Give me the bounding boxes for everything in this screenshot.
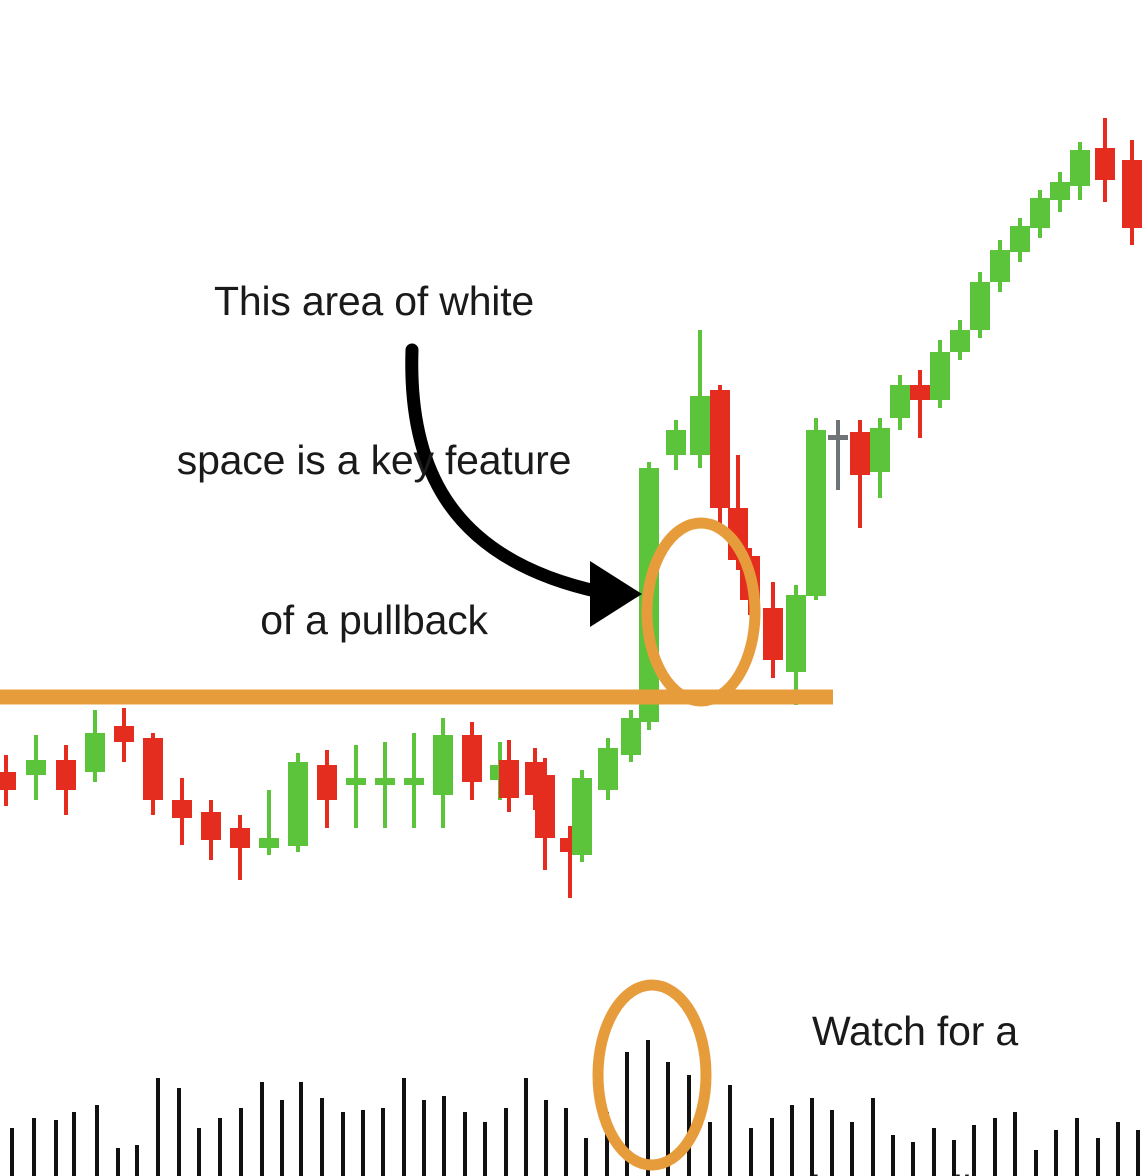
candle-body	[950, 330, 970, 352]
volume-bar-15	[320, 1098, 324, 1176]
volume-bar-2	[54, 1120, 58, 1176]
candle-0	[0, 755, 16, 806]
candle-9	[259, 790, 279, 855]
candle-11	[317, 750, 337, 828]
candle-body	[404, 778, 424, 785]
candle-wick	[354, 745, 358, 828]
candle-body	[1095, 148, 1115, 180]
candle-32	[786, 585, 806, 705]
candle-wick	[918, 370, 922, 438]
candle-body	[317, 765, 337, 800]
candle-43	[1010, 218, 1030, 262]
volume-bar-8	[177, 1088, 181, 1176]
candle-2	[56, 745, 76, 815]
candle-body	[375, 778, 395, 785]
volume-bar-31	[646, 1040, 650, 1176]
candle-body	[666, 430, 686, 455]
candle-body	[499, 760, 519, 798]
candle-body	[230, 828, 250, 848]
candle-body	[1030, 198, 1050, 228]
candle-13	[375, 742, 395, 828]
volume-bar-24	[504, 1108, 508, 1176]
candle-44	[1030, 190, 1050, 238]
candle-38	[910, 370, 930, 438]
candle-body	[1122, 160, 1142, 228]
candle-body	[710, 390, 730, 508]
volume-bar-6	[135, 1145, 139, 1176]
volume-bar-10	[218, 1118, 222, 1176]
candle-45	[1050, 172, 1070, 212]
candle-39	[930, 340, 950, 408]
candle-41	[970, 272, 990, 338]
volume-bar-33	[687, 1075, 691, 1176]
candle-body	[806, 430, 826, 596]
volume-bar-3	[72, 1112, 76, 1176]
volume-bar-21	[442, 1096, 446, 1176]
candle-body	[0, 772, 16, 790]
candle-body	[26, 760, 46, 775]
candle-body	[56, 760, 76, 790]
volume-bar-4	[95, 1105, 99, 1176]
volume-annotation-line-1: Watch for a	[700, 1005, 1130, 1058]
candle-35	[850, 420, 870, 528]
volume-bar-9	[197, 1128, 201, 1176]
candle-body	[828, 435, 848, 440]
pullback-highlight-ellipse	[647, 523, 755, 701]
candle-48	[1122, 140, 1142, 245]
candle-37	[890, 375, 910, 430]
volume-bar-27	[564, 1108, 568, 1176]
candle-body	[990, 250, 1010, 282]
candle-body	[930, 352, 950, 400]
candle-31	[763, 582, 783, 678]
volume-bar-55	[1136, 1130, 1140, 1176]
candle-40	[950, 320, 970, 360]
volume-annotation-line-2: volume spike on	[700, 1164, 1130, 1176]
volume-bar-19	[402, 1078, 406, 1176]
candle-12	[346, 745, 366, 828]
candle-8	[230, 815, 250, 880]
volume-bar-26	[544, 1100, 548, 1176]
candle-body	[535, 775, 555, 838]
candle-body	[172, 800, 192, 818]
candle-10	[288, 753, 308, 852]
candle-body	[598, 748, 618, 790]
candle-47	[1095, 118, 1115, 202]
volume-bar-12	[260, 1082, 264, 1176]
volume-annotation-text: Watch for a volume spike on the breakout	[700, 898, 1130, 1176]
candle-body	[690, 396, 710, 455]
volume-bar-23	[483, 1122, 487, 1176]
candle-body	[1070, 150, 1090, 186]
candle-body	[850, 432, 870, 475]
candle-body	[763, 608, 783, 660]
pullback-annotation-line-2: space is a key feature	[96, 434, 652, 487]
candle-body	[1010, 226, 1030, 252]
volume-bar-0	[10, 1128, 14, 1176]
volume-bar-7	[156, 1078, 160, 1176]
candle-body	[890, 385, 910, 418]
pullback-annotation-line-1: This area of white	[96, 275, 652, 328]
candle-body	[201, 812, 221, 840]
candlestick-chart-image: This area of white space is a key featur…	[0, 0, 1146, 1176]
volume-bar-20	[422, 1100, 426, 1176]
volume-bar-14	[299, 1082, 303, 1176]
volume-bar-13	[280, 1100, 284, 1176]
volume-bar-18	[381, 1108, 385, 1176]
volume-bar-22	[463, 1112, 467, 1176]
candle-body	[346, 778, 366, 785]
candle-34	[828, 420, 848, 490]
volume-bar-11	[239, 1108, 243, 1176]
volume-bar-17	[361, 1110, 365, 1176]
candle-wick	[836, 420, 840, 490]
candle-7	[201, 800, 221, 860]
candle-27	[690, 330, 710, 468]
candle-26	[666, 420, 686, 470]
candle-body	[870, 428, 890, 472]
candle-46	[1070, 142, 1090, 200]
volume-bar-1	[32, 1118, 36, 1176]
candle-wick	[568, 826, 572, 898]
candle-28	[710, 385, 730, 530]
candle-6	[172, 778, 192, 845]
volume-bar-28	[584, 1138, 588, 1176]
candle-body	[288, 762, 308, 846]
candle-body	[259, 838, 279, 848]
candle-33	[806, 418, 826, 600]
candle-1	[26, 735, 46, 800]
volume-bar-5	[116, 1148, 120, 1176]
candle-body	[910, 385, 930, 400]
volume-bar-16	[341, 1112, 345, 1176]
candle-body	[572, 778, 592, 855]
candle-22	[572, 770, 592, 862]
pullback-annotation-line-3: of a pullback	[96, 594, 652, 647]
candle-42	[990, 240, 1010, 292]
volume-bar-25	[524, 1078, 528, 1176]
pullback-annotation-text: This area of white space is a key featur…	[96, 168, 652, 754]
candle-body	[1050, 182, 1070, 200]
candle-body	[970, 282, 990, 330]
candle-36	[870, 418, 890, 498]
candle-body	[786, 595, 806, 672]
